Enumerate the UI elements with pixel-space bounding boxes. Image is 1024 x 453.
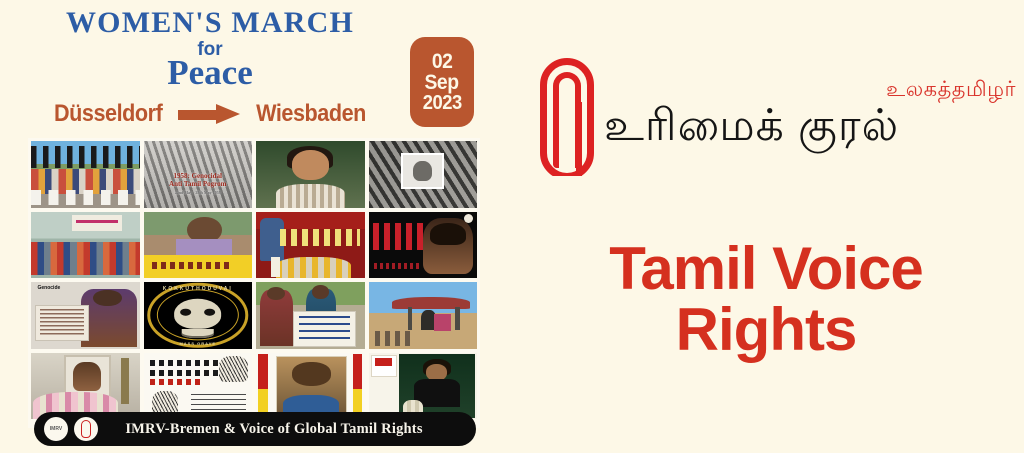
date-badge-month: Sep — [425, 72, 459, 93]
banner-root: WOMEN'S MARCH for Peace Düsseldorf Wiesb… — [0, 0, 1024, 453]
collage-cell-maamanithar-raviraj — [369, 212, 478, 279]
collage-caption-pogrom: 1958: Genocidal Anti Tamil Pogrom 22nd M… — [150, 172, 245, 196]
brand-tamil-title: உரிமைக் குரல் — [604, 104, 1024, 148]
collage-cell-women-holding-placard — [256, 282, 365, 349]
collage-cell-framed-photo-memorial — [369, 141, 478, 208]
collage-caption-massgrave-top: KOKKUTHODUVAI — [144, 286, 253, 292]
collage-cell-roadside-memorial — [369, 282, 478, 349]
brand-lockup: உலகத்தமிழர் உரிமைக் குரல் — [520, 52, 1020, 197]
page-title: WOMEN'S MARCH — [0, 8, 420, 38]
poster-subject-word: Peace — [0, 55, 420, 90]
route-destination: Wiesbaden — [256, 100, 366, 128]
brand-panel: உலகத்தமிழர் உரிமைக் குரல் Tamil Voice Ri… — [508, 0, 1024, 453]
brand-english-title-line1: Tamil Voice — [508, 238, 1024, 299]
collage-cell-youth-portrait-memorial — [369, 353, 478, 420]
collage-caption-genocide: Genocide — [38, 285, 61, 291]
collage-cell-lte-remorse-statement — [144, 353, 253, 420]
brand-english-title-line2: Rights — [508, 299, 1024, 360]
photo-collage: 1958: Genocidal Anti Tamil Pogrom 22nd M… — [28, 138, 480, 428]
collage-cell-mullivaikkal-shrine — [256, 212, 365, 279]
collage-cell-man-portrait-blue-shirt — [256, 353, 365, 420]
imrv-logo-icon: IMRV — [44, 417, 68, 441]
collage-cell-kokkuthoduvai-mass-grave: KOKKUTHODUVAI MASS GRAVE — [144, 282, 253, 349]
collage-cell-protest-march — [31, 141, 140, 208]
brand-english-title: Tamil Voice Rights — [508, 238, 1024, 360]
collage-grid: 1958: Genocidal Anti Tamil Pogrom 22nd M… — [31, 141, 477, 419]
organizer-footer: IMRV IMRV-Bremen & Voice of Global Tamil… — [34, 412, 476, 446]
collage-cell-hunger-strike-sit-in — [31, 212, 140, 279]
brand-tamil-tagline: உலகத்தமிழர் — [886, 78, 1016, 104]
collage-cell-child-holding-banner — [144, 212, 253, 279]
march-route: Düsseldorf Wiesbaden — [0, 100, 420, 128]
paperclip-logo-icon — [74, 417, 98, 441]
route-origin: Düsseldorf — [54, 100, 162, 128]
organizer-footer-text: IMRV-Bremen & Voice of Global Tamil Righ… — [104, 421, 466, 438]
poster-header: WOMEN'S MARCH for Peace Düsseldorf Wiesb… — [0, 0, 508, 132]
collage-cell-1958-pogrom: 1958: Genocidal Anti Tamil Pogrom 22nd M… — [144, 141, 253, 208]
date-badge: 02 Sep 2023 — [410, 37, 474, 127]
collage-cell-young-girl-portrait — [256, 141, 365, 208]
date-badge-year: 2023 — [422, 93, 461, 113]
collage-cell-genocide-survivor: Genocide — [31, 282, 140, 349]
arrow-right-icon — [178, 104, 240, 124]
collage-cell-altar-with-flowers — [31, 353, 140, 420]
collage-caption-massgrave-bottom: MASS GRAVE — [144, 341, 253, 346]
date-badge-day: 02 — [432, 51, 453, 72]
womens-march-poster: WOMEN'S MARCH for Peace Düsseldorf Wiesb… — [0, 0, 508, 453]
paperclip-logo-icon — [536, 58, 598, 180]
